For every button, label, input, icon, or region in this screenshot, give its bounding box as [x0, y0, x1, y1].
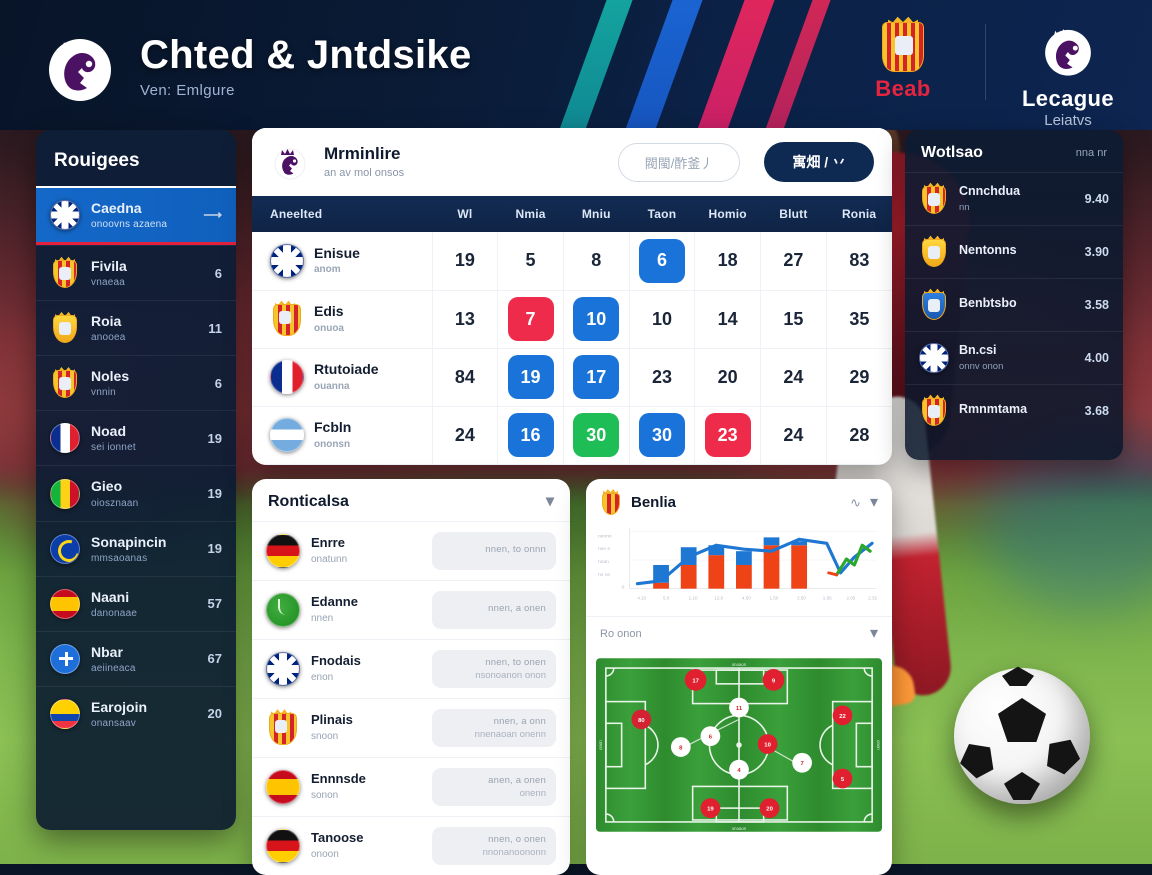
- club-shield-crest-icon: [600, 491, 622, 515]
- chart-svg: nnnnn nnn n nnan nn nn 0: [594, 521, 880, 607]
- list-item-detail-box: anen, a onen onenn: [432, 768, 556, 806]
- sidebar-item-label: Naani: [91, 589, 197, 605]
- svg-text:20: 20: [766, 806, 773, 812]
- crest-blue-icon: [919, 290, 949, 320]
- list-item-detail-line1: anen, a onen: [488, 775, 546, 786]
- cell-value: 13: [455, 309, 475, 329]
- svg-text:22: 22: [839, 713, 846, 719]
- standings-panel: Mrminlire an av mol onsos 閥閩/酢釜丿 寓畑 / 丷 …: [252, 128, 892, 465]
- league-lion-crest-icon: [1036, 18, 1100, 82]
- list-item[interactable]: Fnodais enon nnen, to onen nsonoanon ono…: [252, 639, 570, 698]
- table-cell: 84: [432, 348, 498, 406]
- table-cell: 28: [826, 406, 892, 464]
- list-item-detail-box: nnen, a onn nnenaoan onenn: [432, 709, 556, 747]
- sidebar-item-value: 19: [208, 541, 222, 556]
- sidebar-item-value: 19: [208, 431, 222, 446]
- club-shield-crest-icon: [878, 18, 928, 72]
- sidebar-item-sublabel: onansaav: [91, 718, 197, 729]
- svg-text:2.05: 2.05: [846, 595, 855, 600]
- flag-ml-icon: [50, 479, 80, 509]
- sidebar-item-fivila[interactable]: Fivila vnaeaa 6: [36, 245, 236, 300]
- team-name: Enisue: [314, 246, 360, 261]
- list-item[interactable]: Edanne nnen nnen, a onen: [252, 580, 570, 639]
- list-item[interactable]: Rmnmtama 3.68: [905, 384, 1123, 437]
- list-item-name: Plinais: [311, 713, 421, 727]
- cell-value: 29: [849, 367, 869, 387]
- svg-text:nn nn: nn nn: [598, 572, 611, 577]
- table-cell: 10: [629, 290, 695, 348]
- table-cell: 13: [432, 290, 498, 348]
- header-divider: [985, 24, 986, 100]
- table-cell: 18: [695, 232, 761, 290]
- sidebar-item-noad[interactable]: Noad sei ionnet 19: [36, 410, 236, 465]
- flag-uk-icon: [50, 200, 80, 230]
- sidebar-item-sublabel: sei ionnet: [91, 442, 197, 453]
- flag-ar-icon: [270, 418, 304, 452]
- list-item-detail-line1: nnen, to onen: [485, 657, 546, 668]
- crest-gold2-icon: [50, 313, 80, 343]
- analytics-panel-header: Benlia ∿ ▾: [586, 479, 892, 521]
- sidebar-item-sublabel: aeiineaca: [91, 663, 197, 674]
- table-cell: 10: [563, 290, 629, 348]
- cell-value: 15: [783, 309, 803, 329]
- cell-value: 23: [652, 367, 672, 387]
- cell-value: 24: [783, 367, 803, 387]
- table-cell-team: Rtutoiade ouanna: [252, 348, 432, 406]
- table-cell: 6: [629, 232, 695, 290]
- cell-value: 24: [783, 425, 803, 445]
- flag-fr-icon: [270, 360, 304, 394]
- svg-text:1.10: 1.10: [689, 595, 698, 600]
- svg-text:onon: onon: [598, 739, 603, 749]
- standings-panel-title: Mrminlire: [324, 145, 604, 164]
- sidebar-item-sublabel: vnnin: [91, 387, 204, 398]
- table-row[interactable]: Enisue anom 19 5 8 6 18 27 83: [252, 232, 892, 290]
- cell-value-highlight: 16: [508, 413, 554, 457]
- sparkline-icon[interactable]: ∿: [850, 495, 861, 511]
- table-cell-team: Enisue anom: [252, 232, 432, 290]
- list-item-detail-box: nnen, o onen nnonanoononn: [432, 827, 556, 865]
- cell-value-highlight: 30: [639, 413, 685, 457]
- list-item-detail-box: nnen, to onnn: [432, 532, 556, 570]
- list-item-name: Bn.csi: [959, 344, 1075, 358]
- crest-gold-icon: [50, 368, 80, 398]
- list-item-value: 3.58: [1085, 298, 1109, 312]
- table-cell: 83: [826, 232, 892, 290]
- flag-de-icon: [266, 534, 300, 568]
- sidebar-item-value: 19: [208, 486, 222, 501]
- crest-gold-icon: [270, 302, 304, 336]
- column-header-7[interactable]: Ronia: [826, 196, 892, 232]
- list-item-name: Cnnchdua: [959, 185, 1075, 199]
- header-right-logos: Beab Lecague Leiatvs: [847, 18, 1124, 129]
- list-item-detail-line2: onenn: [520, 788, 546, 799]
- flag-uk-icon: [919, 343, 949, 373]
- column-header-2[interactable]: Nmia: [498, 196, 564, 232]
- main-content: Mrminlire an av mol onsos 閥閩/酢釜丿 寓畑 / 丷 …: [252, 128, 892, 875]
- svg-text:80: 80: [638, 717, 645, 723]
- svg-text:11: 11: [736, 705, 743, 711]
- sidebar-item-label: Gieo: [91, 478, 197, 494]
- svg-text:nnnnn: nnnnn: [598, 534, 612, 539]
- header-league-sublabel: Leiatvs: [1012, 112, 1124, 129]
- leagues-sidebar: Rouigees Caedna onoovns azaena ⟶ Fivila …: [36, 130, 236, 830]
- list-item[interactable]: Plinais snoon nnen, a onn nnenaoan onenn: [252, 698, 570, 757]
- column-header-team[interactable]: Aneelted: [252, 196, 432, 232]
- svg-text:onoaon: onoaon: [732, 662, 747, 667]
- flag-es-icon: [50, 589, 80, 619]
- svg-text:12.0: 12.0: [714, 595, 723, 600]
- list-item-detail-box: nnen, a onen: [432, 591, 556, 629]
- soccer-ball-image: [954, 668, 1090, 804]
- list-item[interactable]: Nentonns 3.90: [905, 225, 1123, 278]
- list-item-sublabel: sonon: [311, 790, 421, 801]
- flag-uk-icon: [270, 244, 304, 278]
- list-item-name: Fnodais: [311, 654, 421, 668]
- table-cell: 20: [695, 348, 761, 406]
- svg-text:2.50: 2.50: [797, 595, 806, 600]
- list-item-sublabel: onnv onon: [959, 361, 1075, 372]
- chevron-down-icon[interactable]: ▾: [870, 626, 878, 642]
- svg-text:10: 10: [764, 742, 771, 748]
- svg-text:2.32: 2.32: [868, 595, 877, 600]
- crest-gold-icon: [50, 258, 80, 288]
- svg-text:19: 19: [707, 806, 714, 812]
- table-cell: 5: [498, 232, 564, 290]
- list-item-value: 3.90: [1085, 245, 1109, 259]
- sidebar-item-noles[interactable]: Noles vnnin 6: [36, 355, 236, 410]
- svg-text:onoaon: onoaon: [732, 825, 747, 830]
- svg-text:4.10: 4.10: [637, 595, 646, 600]
- cell-value: 14: [718, 309, 738, 329]
- sidebar-title: Rouigees: [36, 130, 236, 186]
- header-league-badge[interactable]: Lecague Leiatvs: [1012, 18, 1124, 129]
- table-cell: 24: [432, 406, 498, 464]
- table-cell: 27: [761, 232, 827, 290]
- column-header-1[interactable]: Wl: [432, 196, 498, 232]
- flag-blue-icon: [50, 644, 80, 674]
- standings-panel-header: Mrminlire an av mol onsos 閥閩/酢釜丿 寓畑 / 丷: [252, 128, 892, 196]
- list-item-sublabel: enon: [311, 672, 421, 683]
- sidebar-item-value: 11: [208, 321, 222, 336]
- table-cell: 8: [563, 232, 629, 290]
- top-scorers-title: Wotlsao: [921, 144, 983, 162]
- list-item-name: Rmnmtama: [959, 403, 1075, 417]
- crest-gold-icon: [919, 184, 949, 214]
- sidebar-item-label: Caedna: [91, 200, 192, 216]
- team-sublabel: ouanna: [314, 381, 379, 392]
- svg-text:1.50: 1.50: [770, 595, 779, 600]
- brand-block: Chted & Jntdsike Ven: Emlgure: [38, 24, 472, 108]
- table-cell: 17: [563, 348, 629, 406]
- column-header-6[interactable]: Blutt: [761, 196, 827, 232]
- svg-text:17: 17: [692, 678, 699, 684]
- table-row[interactable]: Fcbln ononsn 24 16 30 30 23 24 28: [252, 406, 892, 464]
- table-cell: 14: [695, 290, 761, 348]
- header-league-label: Lecague: [1012, 86, 1124, 112]
- sidebar-item-label: Fivila: [91, 258, 204, 274]
- page-subtitle: Ven: Emlgure: [140, 82, 472, 99]
- cell-value-highlight: 6: [639, 239, 685, 283]
- team-name: Edis: [314, 304, 344, 319]
- list-item-detail-line2: nnenaoan onenn: [475, 729, 546, 740]
- analytics-footer[interactable]: Ro onon ▾: [586, 616, 892, 651]
- standings-table-body: Enisue anom 19 5 8 6 18 27 83: [252, 232, 892, 464]
- top-scorers-header: Wotlsao nna nr: [905, 130, 1123, 172]
- table-cell: 29: [826, 348, 892, 406]
- table-cell-team: Edis onuoa: [252, 290, 432, 348]
- formation-pitch: 17 9 11 80 22 5 6 8 10 7 4 19 20: [586, 651, 892, 850]
- filter-button[interactable]: 閥閩/酢釜丿: [618, 143, 741, 182]
- flag-eu-icon: [50, 534, 80, 564]
- list-item-name: Nentonns: [959, 244, 1075, 258]
- table-cell: 15: [761, 290, 827, 348]
- list-item-sublabel: onatunn: [311, 554, 421, 565]
- sidebar-item-label: Earojoin: [91, 699, 197, 715]
- list-item-value: 3.68: [1085, 404, 1109, 418]
- column-header-4[interactable]: Taon: [629, 196, 695, 232]
- cell-value: 10: [652, 309, 672, 329]
- svg-text:onon: onon: [876, 740, 881, 750]
- table-cell: 19: [498, 348, 564, 406]
- cell-value-highlight: 30: [573, 413, 619, 457]
- table-header-row: Aneelted Wl Nmia Mniu Taon Homio Blutt R…: [252, 196, 892, 232]
- flag-uk-icon: [266, 652, 300, 686]
- list-item-sublabel: nn: [959, 202, 1075, 213]
- flag-ec-icon: [50, 699, 80, 729]
- list-item-name: Enrre: [311, 536, 421, 550]
- matches-list-panel: Ronticalsa ▾ Enrre onatunn nnen, to onnn…: [252, 479, 570, 875]
- crest-gold2-icon: [919, 237, 949, 267]
- analytics-panel: Benlia ∿ ▾ nnnnn nnn n nnan nn nn 0: [586, 479, 892, 875]
- svg-text:nnan: nnan: [598, 560, 609, 565]
- flag-fr-icon: [50, 423, 80, 453]
- list-item-detail-line1: nnen, o onen: [488, 834, 546, 845]
- chevron-down-icon[interactable]: ▾: [546, 494, 554, 510]
- standings-table-head: Aneelted Wl Nmia Mniu Taon Homio Blutt R…: [252, 196, 892, 232]
- flag-green-icon: [266, 593, 300, 627]
- team-name: Rtutoiade: [314, 362, 379, 377]
- svg-text:0: 0: [622, 584, 625, 590]
- sidebar-item-roia[interactable]: Roia anooea 11: [36, 300, 236, 355]
- sidebar-item-value: 6: [215, 376, 222, 391]
- table-row[interactable]: Rtutoiade ouanna 84 19 17 23 20 24 29: [252, 348, 892, 406]
- top-scorers-panel: Wotlsao nna nr Cnnchdua nn 9.40 Nentonns…: [905, 130, 1123, 460]
- sidebar-item-sublabel: anooea: [91, 332, 197, 343]
- svg-text:5.0: 5.0: [663, 595, 670, 600]
- header-club-label: Beab: [847, 76, 959, 102]
- list-item-sublabel: onoon: [311, 849, 421, 860]
- cell-value: 18: [718, 250, 738, 270]
- list-item-detail-line1: nnen, a onn: [494, 716, 546, 727]
- sidebar-item-sublabel: danonaae: [91, 608, 197, 619]
- list-item-sublabel: nnen: [311, 613, 421, 624]
- matches-list-title: Ronticalsa: [268, 493, 349, 511]
- sidebar-item-earojoin[interactable]: Earojoin onansaav 20: [36, 686, 236, 741]
- table-cell: 23: [695, 406, 761, 464]
- list-item-detail-line2: nnonanoononn: [483, 847, 546, 858]
- flag-es-icon: [266, 770, 300, 804]
- list-item[interactable]: Enrre onatunn nnen, to onnn: [252, 521, 570, 580]
- list-item-value: 9.40: [1085, 192, 1109, 206]
- list-item[interactable]: Benbtsbo 3.58: [905, 278, 1123, 331]
- cell-value: 5: [526, 250, 536, 270]
- list-item[interactable]: Ennnsde sonon anen, a onen onenn: [252, 757, 570, 816]
- list-item[interactable]: Cnnchdua nn 9.40: [905, 172, 1123, 225]
- list-item-detail-box: nnen, to onen nsonoanon onon: [432, 650, 556, 688]
- table-cell: 24: [761, 348, 827, 406]
- cell-value: 8: [591, 250, 601, 270]
- list-item[interactable]: Tanoose onoon nnen, o onen nnonanoononn: [252, 816, 570, 875]
- table-cell: 16: [498, 406, 564, 464]
- cell-value-highlight: 7: [508, 297, 554, 341]
- sidebar-item-label: Noad: [91, 423, 197, 439]
- list-item-detail-line1: nnen, to onnn: [485, 544, 546, 555]
- svg-text:4.50: 4.50: [742, 595, 751, 600]
- cell-value: 19: [455, 250, 475, 270]
- sidebar-item-sublabel: oiosznaan: [91, 498, 197, 509]
- sidebar-item-gieo[interactable]: Gieo oiosznaan 19: [36, 465, 236, 520]
- sidebar-item-sublabel: vnaeaa: [91, 277, 204, 288]
- svg-text:1.95: 1.95: [823, 595, 832, 600]
- sidebar-item-sonapincin[interactable]: Sonapincin mmsaoanas 19: [36, 521, 236, 576]
- list-item-detail-line2: nsonoanon onon: [475, 670, 546, 681]
- team-sublabel: ononsn: [314, 439, 351, 450]
- top-scorers-meta: nna nr: [1076, 147, 1107, 159]
- crest-gold-icon: [266, 711, 300, 745]
- primary-action-button[interactable]: 寓畑 / 丷: [764, 142, 874, 182]
- table-cell: 23: [629, 348, 695, 406]
- column-header-3[interactable]: Mniu: [563, 196, 629, 232]
- standings-table: Aneelted Wl Nmia Mniu Taon Homio Blutt R…: [252, 196, 892, 465]
- bottom-panels-row: Ronticalsa ▾ Enrre onatunn nnen, to onnn…: [252, 479, 892, 875]
- list-item-value: 4.00: [1085, 351, 1109, 365]
- list-item-name: Tanoose: [311, 831, 421, 845]
- table-cell: 24: [761, 406, 827, 464]
- sidebar-item-naani[interactable]: Naani danonaae 57: [36, 576, 236, 631]
- standings-panel-subtitle: an av mol onsos: [324, 167, 604, 179]
- crest-gold-icon: [919, 396, 949, 426]
- pitch-svg: 17 9 11 80 22 5 6 8 10 7 4 19 20: [596, 657, 882, 833]
- sidebar-item-nbar[interactable]: Nbar aeiineaca 67: [36, 631, 236, 686]
- cell-value: 27: [783, 250, 803, 270]
- analytics-panel-title: Benlia: [631, 494, 841, 511]
- sidebar-item-label: Sonapincin: [91, 534, 197, 550]
- matches-list-header: Ronticalsa ▾: [252, 479, 570, 521]
- list-item-name: Ennnsde: [311, 772, 421, 786]
- header-club-badge[interactable]: Beab: [847, 18, 959, 102]
- table-cell: 30: [563, 406, 629, 464]
- team-name: Fcbln: [314, 420, 351, 435]
- table-cell: 30: [629, 406, 695, 464]
- cell-value: 35: [849, 309, 869, 329]
- table-cell: 7: [498, 290, 564, 348]
- page-title: Chted & Jntdsike: [140, 34, 472, 76]
- column-header-5[interactable]: Homio: [695, 196, 761, 232]
- sidebar-item-label: Nbar: [91, 644, 197, 660]
- cell-value-highlight: 23: [705, 413, 751, 457]
- sidebar-item-sublabel: mmsaoanas: [91, 553, 197, 564]
- table-cell: 19: [432, 232, 498, 290]
- sidebar-item-label: Roia: [91, 313, 197, 329]
- list-item-sublabel: snoon: [311, 731, 421, 742]
- sidebar-item-value: 57: [208, 596, 222, 611]
- team-sublabel: onuoa: [314, 323, 344, 334]
- cell-value: 20: [718, 367, 738, 387]
- cell-value: 83: [849, 250, 869, 270]
- list-item-detail-line1: nnen, a onen: [488, 603, 546, 614]
- cell-value: 24: [455, 425, 475, 445]
- cell-value-highlight: 17: [573, 355, 619, 399]
- table-row[interactable]: Edis onuoa 13 7 10 10 14 15 35: [252, 290, 892, 348]
- list-item-name: Edanne: [311, 595, 421, 609]
- flag-de-icon: [266, 829, 300, 863]
- cell-value-highlight: 19: [508, 355, 554, 399]
- table-cell: 35: [826, 290, 892, 348]
- performance-chart: nnnnn nnn n nnan nn nn 0: [586, 521, 892, 616]
- sidebar-item-label: Noles: [91, 368, 204, 384]
- chevron-down-icon[interactable]: ▾: [870, 495, 878, 511]
- cell-value: 28: [849, 425, 869, 445]
- trend-up-icon: ⟶: [203, 207, 222, 223]
- team-sublabel: anom: [314, 264, 360, 275]
- cell-value-highlight: 10: [573, 297, 619, 341]
- sidebar-item-caedna[interactable]: Caedna onoovns azaena ⟶: [36, 186, 236, 245]
- app-header: Chted & Jntdsike Ven: Emlgure Beab: [0, 0, 1152, 130]
- premier-league-lion-crest-icon: [270, 142, 310, 182]
- sidebar-item-value: 6: [215, 266, 222, 281]
- sidebar-item-value: 20: [208, 706, 222, 721]
- cell-value: 84: [455, 367, 475, 387]
- table-cell-team: Fcbln ononsn: [252, 406, 432, 464]
- list-item-name: Benbtsbo: [959, 297, 1075, 311]
- sidebar-item-value: 67: [208, 651, 222, 666]
- analytics-footer-label: Ro onon: [600, 628, 642, 640]
- svg-text:nnn n: nnn n: [598, 547, 611, 552]
- premier-league-lion-crest-icon: [38, 24, 122, 108]
- sidebar-item-sublabel: onoovns azaena: [91, 219, 192, 230]
- list-item[interactable]: Bn.csi onnv onon 4.00: [905, 331, 1123, 384]
